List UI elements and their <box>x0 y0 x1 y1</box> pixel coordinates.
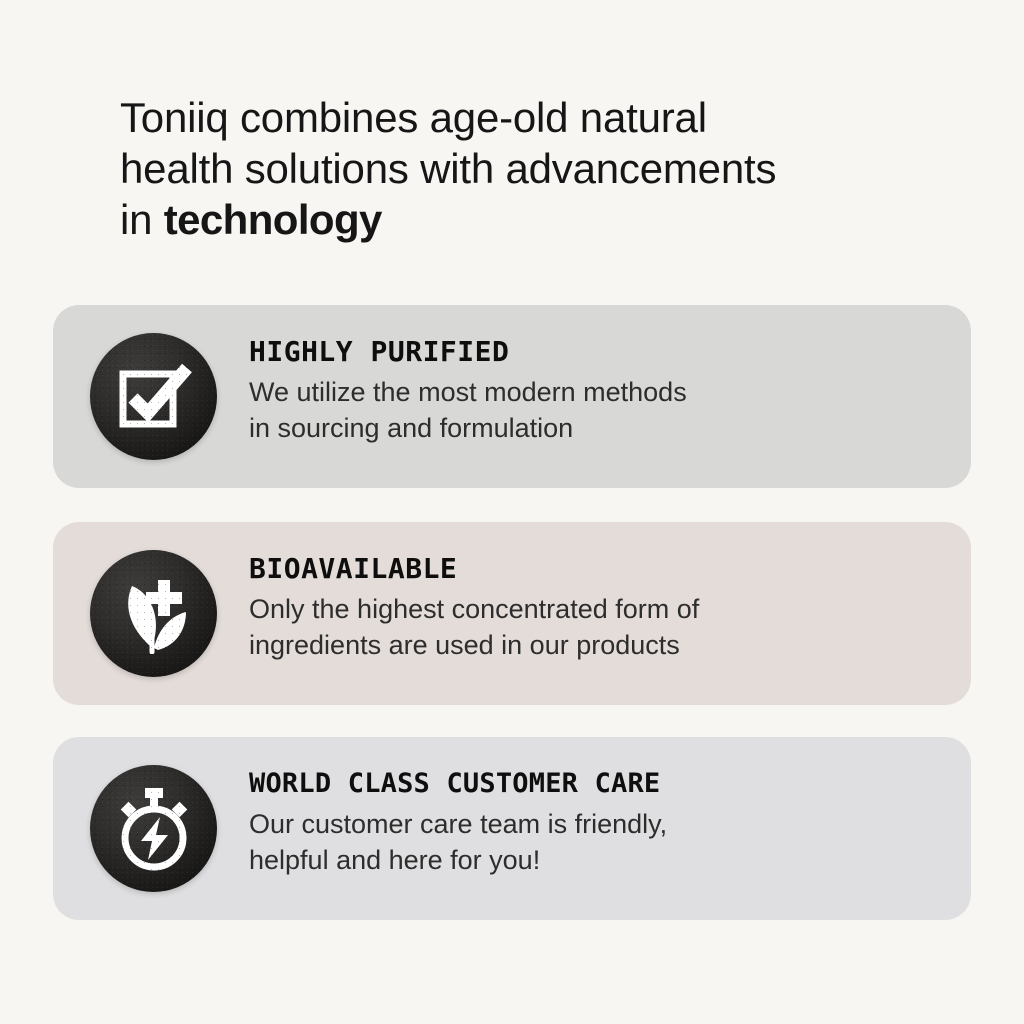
card-description-line-1: Only the highest concentrated form of <box>249 594 699 624</box>
card-title: BIOAVAILABLE <box>249 552 947 586</box>
headline-line-1: Toniiq combines age-old natural <box>120 94 707 141</box>
card-text-block: WORLD CLASS CUSTOMER CARE Our customer c… <box>249 767 947 878</box>
page-headline: Toniiq combines age-old natural health s… <box>120 92 880 245</box>
card-description-line-1: We utilize the most modern methods <box>249 377 687 407</box>
card-description-line-2: in sourcing and formulation <box>249 410 947 446</box>
card-description-line-1: Our customer care team is friendly, <box>249 809 667 839</box>
card-description-line-2: helpful and here for you! <box>249 842 947 878</box>
card-title: WORLD CLASS CUSTOMER CARE <box>249 767 947 801</box>
headline-line-2: health solutions with advancements <box>120 145 776 192</box>
feature-card-bioavailable: BIOAVAILABLE Only the highest concentrat… <box>53 522 971 705</box>
checkbox-check-icon <box>90 333 217 460</box>
card-text-block: HIGHLY PURIFIED We utilize the most mode… <box>249 335 947 446</box>
card-description: We utilize the most modern methods in so… <box>249 374 947 446</box>
feature-card-world-class-customer-care: WORLD CLASS CUSTOMER CARE Our customer c… <box>53 737 971 920</box>
card-description: Our customer care team is friendly, help… <box>249 806 947 878</box>
infographic-page: Toniiq combines age-old natural health s… <box>0 0 1024 1024</box>
card-title: HIGHLY PURIFIED <box>249 335 947 369</box>
card-text-block: BIOAVAILABLE Only the highest concentrat… <box>249 552 947 663</box>
stopwatch-bolt-icon <box>90 765 217 892</box>
leaf-plus-icon <box>90 550 217 677</box>
card-description-line-2: ingredients are used in our products <box>249 627 947 663</box>
headline-line-3-prefix: in <box>120 196 164 243</box>
feature-card-highly-purified: HIGHLY PURIFIED We utilize the most mode… <box>53 305 971 488</box>
headline-emphasis-technology: technology <box>164 196 382 243</box>
card-description: Only the highest concentrated form of in… <box>249 591 947 663</box>
